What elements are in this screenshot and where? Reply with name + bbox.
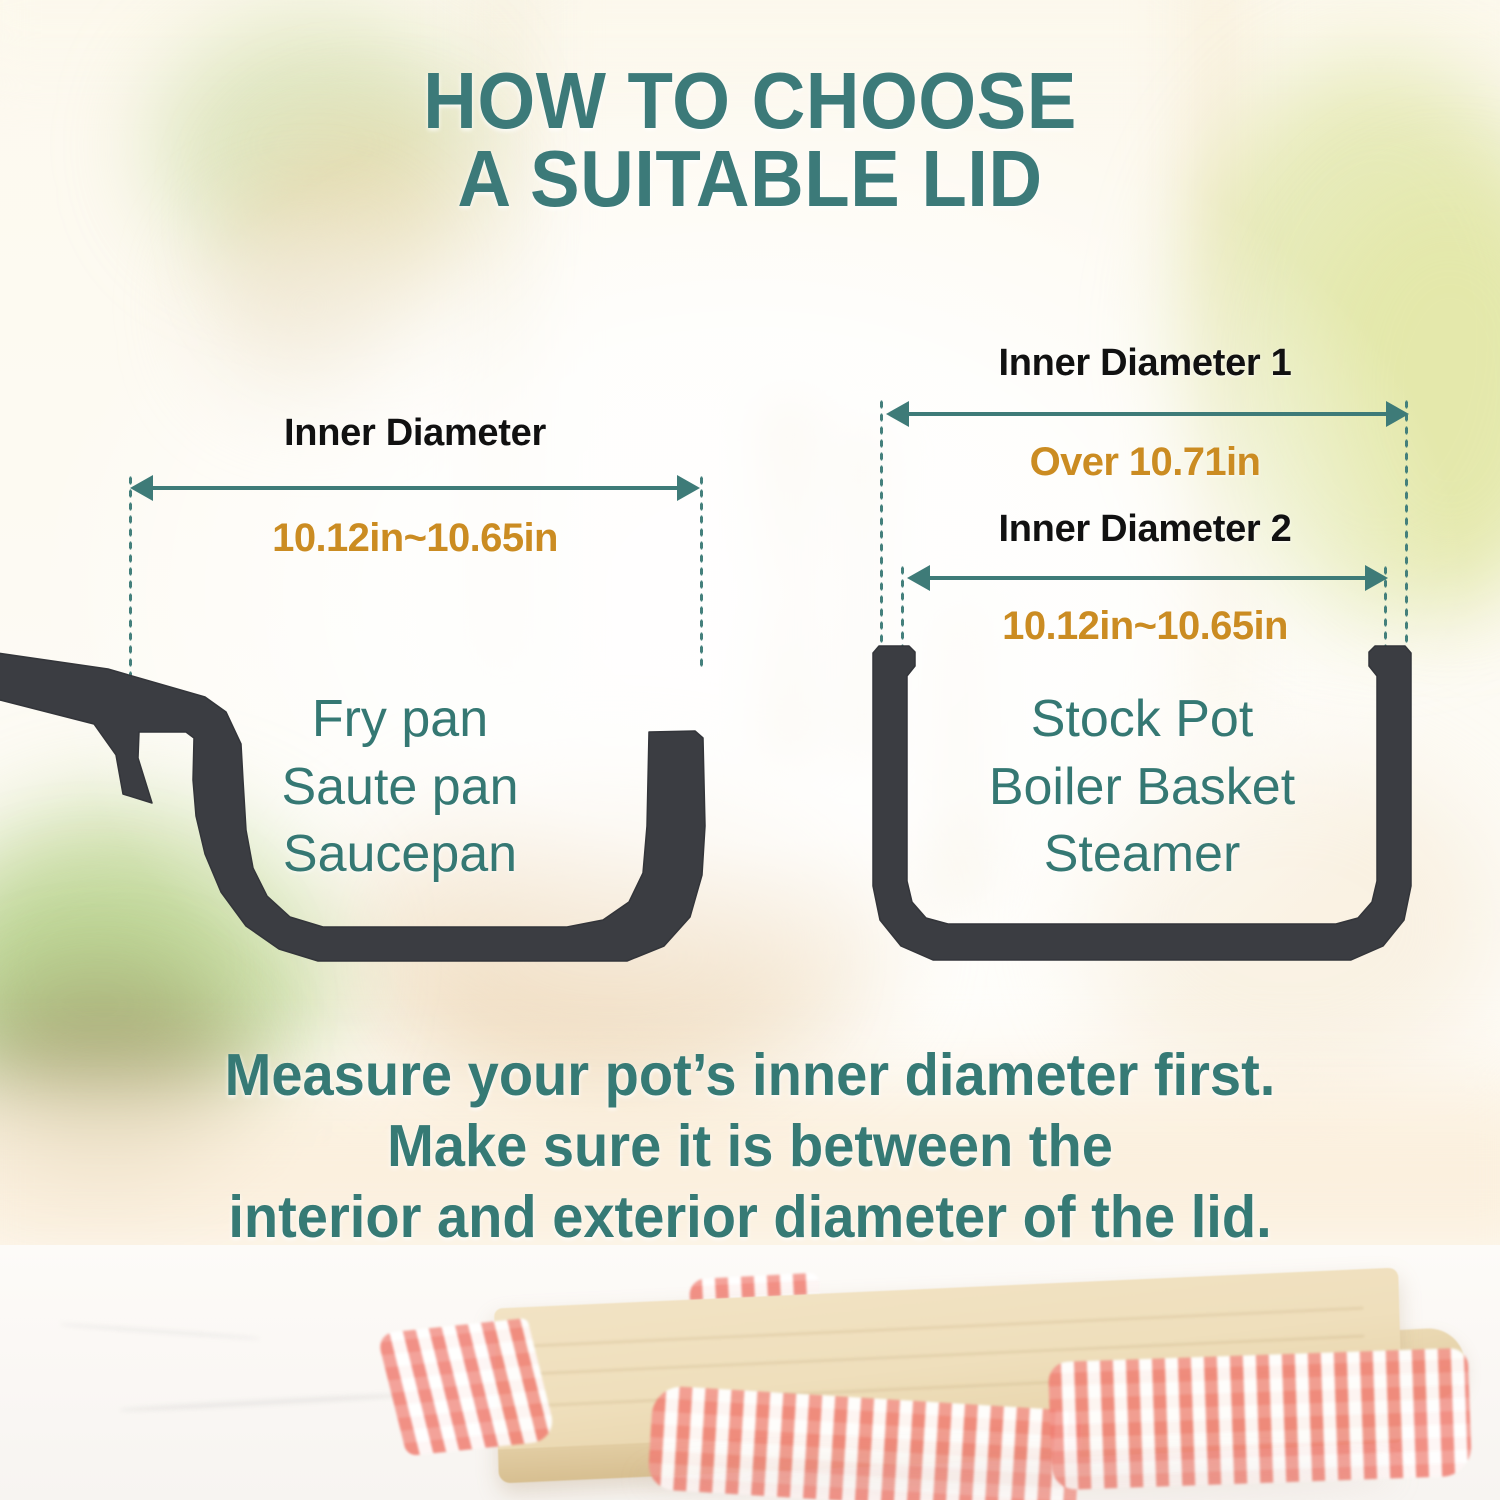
arrow-head-right-icon — [1365, 565, 1388, 591]
instruction-line-3: interior and exterior diameter of the li… — [38, 1182, 1463, 1253]
right-guide-line-outer-start — [879, 398, 884, 650]
right-cookware-item-1: Stock Pot — [932, 686, 1352, 754]
left-inner-diameter-value: 10.12in~10.65in — [125, 516, 705, 561]
arrow-head-right-icon — [677, 475, 700, 501]
infographic-canvas: HOW TO CHOOSE A SUITABLE LID Inner Diame… — [0, 0, 1500, 1500]
left-cookware-item-3: Saucepan — [190, 821, 610, 889]
page-title-line-1: HOW TO CHOOSE — [423, 56, 1077, 145]
left-cookware-item-2: Saute pan — [190, 754, 610, 822]
right-cookware-list: Stock Pot Boiler Basket Steamer — [932, 686, 1352, 889]
right-inner-diameter-2-label: Inner Diameter 2 — [885, 508, 1405, 551]
right-cookware-item-3: Steamer — [932, 821, 1352, 889]
left-cookware-item-1: Fry pan — [190, 686, 610, 754]
arrow-head-right-icon — [1386, 401, 1409, 427]
infographic-content: HOW TO CHOOSE A SUITABLE LID Inner Diame… — [0, 0, 1500, 1500]
instruction-line-1: Measure your pot’s inner diameter first. — [38, 1040, 1463, 1111]
arrow-shaft — [900, 412, 1395, 416]
page-title: HOW TO CHOOSE A SUITABLE LID — [53, 62, 1448, 217]
left-cookware-list: Fry pan Saute pan Saucepan — [190, 686, 610, 889]
right-inner-diameter-1-value: Over 10.71in — [885, 440, 1405, 485]
right-inner-diameter-1-label: Inner Diameter 1 — [885, 342, 1405, 385]
instruction-line-2: Make sure it is between the — [38, 1111, 1463, 1182]
page-title-line-2: A SUITABLE LID — [53, 140, 1448, 218]
right-cookware-item-2: Boiler Basket — [932, 754, 1352, 822]
left-inner-diameter-label: Inner Diameter — [125, 412, 705, 455]
arrow-shaft — [921, 576, 1374, 580]
instruction-text: Measure your pot’s inner diameter first.… — [38, 1040, 1463, 1252]
arrow-shaft — [144, 486, 686, 490]
